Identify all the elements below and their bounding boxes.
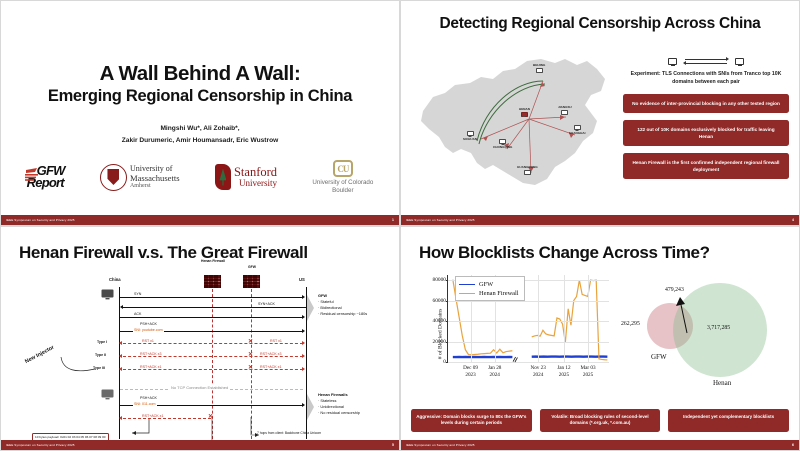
takeaway-card-1: Aggressive: Domain blocks surge to 80x t… <box>411 409 532 433</box>
msg-label-sni: SNI: youtube.com <box>133 328 164 332</box>
finding-card-2: 122 out of 10K domains exclusively block… <box>623 120 789 146</box>
blocked-domains-chart: # of Blocked Domains 0200004000060000800… <box>413 271 613 397</box>
umass-line3: Amherst <box>130 183 180 189</box>
umass-seal-icon <box>100 164 127 191</box>
map-node-label: BEIJING <box>533 63 545 67</box>
chart-y-tick-mark <box>446 362 449 363</box>
page-title: A Wall Behind A Wall: <box>1 63 399 86</box>
cu-boulder-logo: CU University of Colorado Boulder <box>312 160 373 193</box>
msg-line-rst-1 <box>123 343 303 344</box>
msg-line-rst-3 <box>123 369 303 370</box>
blocklist-venn-diagram: 262,295 479,243 3,717,285 GFW Henan <box>621 275 793 401</box>
map-node-sichuan: SICHUAN <box>463 131 477 141</box>
chart-y-tick-label: 20000 <box>433 339 446 345</box>
henan-properties-panel: Henan Firewalls · Stateless · Unidirecti… <box>318 392 360 416</box>
arrowhead-right-red <box>302 354 305 358</box>
chart-y-axis-label: # of Blocked Domains <box>437 309 443 360</box>
venn-label-henan: Henan <box>713 379 731 387</box>
msg-label-rst-right-2: RST+ACK x3 <box>259 352 282 356</box>
gfw-panel-bullet-3: · Residual censorship ~180s <box>318 311 367 317</box>
finding-card-3: Henan Firewall is the first confirmed in… <box>623 153 789 179</box>
venn-intersection-arrow-icon <box>673 295 701 335</box>
gfw-caption: GFW <box>241 265 263 269</box>
takeaway-card-3: Independent yet complementary blocklists <box>668 409 789 433</box>
map-node-label: GUANGDONG <box>517 165 538 169</box>
no-tcp-label: No TCP Connection Established <box>169 385 230 390</box>
chart-legend: GFW Henan Firewall <box>455 276 525 301</box>
chart-gridline <box>448 362 609 363</box>
page-subtitle: Emerging Regional Censorship in China <box>1 87 399 106</box>
henan-firewall-brick-icon <box>204 275 221 288</box>
slide-title: A Wall Behind A Wall: Emerging Regional … <box>0 0 400 226</box>
arrowhead-right <box>302 403 305 407</box>
map-node-label: SHANGHAI <box>569 131 585 135</box>
annotation-7-hops: 7 hops from client: Backbone China Unico… <box>257 431 321 435</box>
msg-line-rst-2 <box>123 356 303 357</box>
page-title: How Blocklists Change Across Time? <box>419 243 710 263</box>
page-title: Henan Firewall v.s. The Great Firewall <box>19 243 308 263</box>
authors-line-1: Mingshi Wu*, Ali Zohaib*, <box>1 125 399 132</box>
slide-footer: IEEE Symposium on Security and Privacy 2… <box>401 440 799 450</box>
chart-y-tick-label: 80000 <box>433 277 446 283</box>
legend-label-henan: Henan Firewall <box>479 290 519 297</box>
monitor-icon <box>467 131 474 136</box>
monitor-icon <box>521 112 528 117</box>
stanford-tree-icon <box>215 164 231 190</box>
arrowhead-right-red <box>302 341 305 345</box>
msg-label-pshack-2: PSH+ACK <box>139 396 158 400</box>
endpoint-china-label: China <box>109 277 121 282</box>
footer-text: IEEE Symposium on Security and Privacy 2… <box>406 218 475 222</box>
authors-line-2: Zakir Durumeric, Amir Houmansadr, Eric W… <box>1 137 399 144</box>
slide-grid: A Wall Behind A Wall: Emerging Regional … <box>0 0 800 451</box>
gfw-flag-icon <box>25 167 39 185</box>
legend-swatch-gfw <box>459 284 475 285</box>
venn-count-gfw-only: 262,295 <box>621 321 640 327</box>
henan-firewall-caption: Henan Firewall <box>197 259 229 263</box>
map-node-beijing: BEIJING <box>533 63 545 73</box>
slide-blocklists-over-time: How Blocklists Change Across Time? # of … <box>400 226 800 451</box>
map-node-label: JIANGSU <box>558 105 572 109</box>
msg-line-synack <box>123 307 306 308</box>
umass-amherst-logo: University of Massachusetts Amherst <box>100 164 180 191</box>
takeaway-row: Aggressive: Domain blocks surge to 80x t… <box>411 409 789 433</box>
drop-x-icon-1: ✕ <box>248 339 253 345</box>
arrowhead-left-red <box>119 341 122 345</box>
msg-label-pshack: PSH+ACK <box>139 322 158 326</box>
legend-item-gfw: GFW <box>459 280 519 289</box>
gfw-report-logo: GFW Report <box>27 165 65 190</box>
page-number: 5 <box>392 443 394 447</box>
slide-henan-vs-gfw: Henan Firewall v.s. The Great Firewall H… <box>0 226 400 451</box>
arrowhead-left <box>120 305 123 309</box>
msg-label-sni-2: SNI: 011.com <box>133 402 157 406</box>
monitor-icon <box>561 110 568 115</box>
monitor-icon <box>574 125 581 130</box>
page-number: 6 <box>792 443 794 447</box>
chart-y-tick-mark <box>446 342 449 343</box>
arrowhead-right <box>302 295 305 299</box>
bidirectional-arrow-icon <box>683 57 729 66</box>
map-node-label: CHONGQING <box>493 145 512 149</box>
endpoint-us-label: US <box>299 277 305 282</box>
takeaway-card-2: Volatile: Broad blocking rules of second… <box>540 409 661 433</box>
msg-label-rst-right-1: RST x1 <box>269 339 283 343</box>
map-node-guangdong: GUANGDONG <box>517 165 538 175</box>
drop-x-icon-2: ✕ <box>248 352 253 358</box>
map-node-jiangsu: JIANGSU <box>558 105 572 115</box>
client-monitor-icon <box>668 58 677 65</box>
chart-vgridline <box>588 275 589 362</box>
footer-text: IEEE Symposium on Security and Privacy 2… <box>406 443 475 447</box>
msg-label-rst-4: RST+ACK x1 <box>141 414 164 418</box>
msg-label-syn: SYN <box>133 292 142 296</box>
stanford-line1: Stanford <box>234 166 277 179</box>
reset-row-label-type-1: Type I <box>97 340 107 344</box>
msg-label-synack: SYN+ACK <box>257 302 276 306</box>
experiment-diagram <box>623 55 789 67</box>
msg-label-rst-left-3: RST+ACK x1 <box>139 365 162 369</box>
chart-y-tick-mark <box>446 301 449 302</box>
server-monitor-icon <box>735 58 744 65</box>
cu-line1: University of Colorado <box>312 179 373 186</box>
venn-count-henan-only: 3,717,285 <box>707 325 730 331</box>
cu-line2: Boulder <box>312 187 373 194</box>
slide-footer: IEEE Symposium on Security and Privacy 2… <box>1 440 399 450</box>
client-monitor-icon <box>101 289 115 300</box>
msg-label-rst-left-2: RST+ACK x3 <box>139 352 162 356</box>
drop-x-icon-3: ✕ <box>248 365 253 371</box>
experiment-description: Experiment: TLS Connections with SNIs fr… <box>623 71 789 87</box>
msg-label-ack: ACK <box>133 312 142 316</box>
legend-swatch-henan <box>459 293 475 294</box>
chart-vgridline <box>538 275 539 362</box>
sequence-diagram: Henan Firewall GFW China US SYN SYN+ACK <box>1 267 400 442</box>
new-injector-annotation: New Injector <box>24 345 55 365</box>
map-node-label: HENAN <box>519 107 530 111</box>
finding-card-1: No evidence of inter-provincial blocking… <box>623 94 789 113</box>
arrowhead-left-red <box>119 354 122 358</box>
chart-x-tick-label: Mar 032025 <box>580 365 595 378</box>
arrowhead-right <box>302 329 305 333</box>
slide-footer: IEEE Symposium on Security and Privacy 2… <box>401 215 799 225</box>
page-number: 1 <box>392 218 394 222</box>
footer-text: IEEE Symposium on Security and Privacy 2… <box>6 218 75 222</box>
chart-y-tick-label: 60000 <box>433 298 446 304</box>
chart-vgridline <box>564 275 565 362</box>
arrowhead-right <box>302 315 305 319</box>
chart-x-tick-label: Dec 092023 <box>463 365 478 378</box>
page-number: 4 <box>792 218 794 222</box>
chart-gridline <box>448 342 609 343</box>
venn-label-gfw: GFW <box>651 353 667 361</box>
gfw-panel-pointer <box>307 295 314 321</box>
stanford-logo: Stanford University <box>215 164 277 190</box>
chart-gridline <box>448 321 609 322</box>
msg-line-ack <box>120 317 303 318</box>
venn-count-intersection: 479,243 <box>665 287 684 293</box>
chart-y-tick-mark <box>446 280 449 281</box>
chart-x-tick-label: Jan 282024 <box>488 365 501 378</box>
china-map-shape <box>415 49 630 199</box>
findings-column: Experiment: TLS Connections with SNIs fr… <box>623 55 789 179</box>
cu-monogram-icon: CU <box>333 160 353 177</box>
monitor-icon <box>499 139 506 144</box>
henan-panel-pointer <box>307 394 314 420</box>
gfw-brick-icon <box>243 275 260 288</box>
chart-y-tick-mark <box>446 321 449 322</box>
page-title: Detecting Regional Censorship Across Chi… <box>401 15 799 33</box>
gfw-properties-panel: GFW · Stateful · Bidirectional · Residua… <box>318 293 367 317</box>
henan-panel-bullet-3: · No residual censorship <box>318 410 360 416</box>
umass-line2: Massachusetts <box>130 174 180 183</box>
chart-series-line-henan-firewall <box>532 280 608 360</box>
chart-y-tick-label: 40000 <box>433 318 446 324</box>
msg-line-syn <box>120 297 303 298</box>
monitor-icon <box>536 68 543 73</box>
slide-detecting-regional-censorship: Detecting Regional Censorship Across Chi… <box>400 0 800 226</box>
china-map: BEIJING HENAN JIANGSU SHANGHAI SICHUAN C… <box>415 49 630 199</box>
arrowhead-right-red <box>302 367 305 371</box>
legend-label-gfw: GFW <box>479 281 493 288</box>
injector-pointer-icon <box>59 355 99 377</box>
client-monitor-icon-2 <box>101 389 115 400</box>
stanford-line2: University <box>234 179 277 188</box>
logo-row: GFW Report University of Massachusetts A… <box>9 151 391 203</box>
map-node-henan: HENAN <box>519 107 530 117</box>
payload-leader-icon <box>129 419 153 437</box>
footer-text: IEEE Symposium on Security and Privacy 2… <box>6 443 75 447</box>
slide-footer: IEEE Symposium on Security and Privacy 2… <box>1 215 399 225</box>
arrowhead-left-red <box>119 367 122 371</box>
msg-label-rst-right-3: RST+ACK x1 <box>259 365 282 369</box>
legend-item-henan: Henan Firewall <box>459 289 519 298</box>
map-node-label: SICHUAN <box>463 137 477 141</box>
axis-break-icon-bottom: // <box>512 357 518 365</box>
map-node-shanghai: SHANGHAI <box>569 125 585 135</box>
map-node-chongqing: CHONGQING <box>493 139 512 149</box>
arrowhead-left-red <box>119 416 122 420</box>
chart-x-tick-label: Nov 232024 <box>530 365 545 378</box>
chart-x-tick-label: Jan 122025 <box>557 365 570 378</box>
msg-label-rst-left-1: RST x1 <box>141 339 155 343</box>
monitor-icon <box>524 170 531 175</box>
